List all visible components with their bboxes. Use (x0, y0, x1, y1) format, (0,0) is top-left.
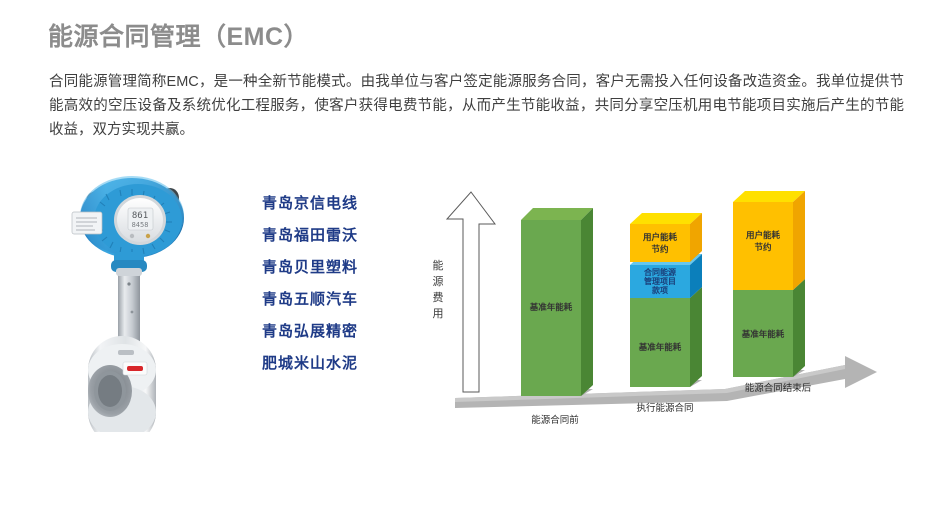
intro-paragraph: 合同能源管理简称EMC，是一种全新节能模式。由我单位与客户签定能源服务合同，客户… (49, 70, 904, 142)
bar1-seg-baseline-label: 基准年能耗 (529, 302, 573, 312)
emc-page: 能源合同管理（EMC） 合同能源管理简称EMC，是一种全新节能模式。由我单位与客… (0, 0, 945, 529)
bar1-seg-baseline-side (581, 208, 593, 396)
client-list: 青岛京信电线 青岛福田雷沃 青岛贝里塑料 青岛五顺汽车 青岛弘展精密 肥城米山水… (262, 196, 392, 388)
bar3-seg-saving-side (793, 191, 805, 290)
bar1-seg-baseline-top (521, 208, 593, 220)
meter-nameplate (72, 212, 102, 234)
bar2-seg-baseline-side (690, 287, 702, 387)
bar2-seg-payment-label-2: 管理项目 (644, 276, 676, 286)
bar3-seg-saving-label-1: 用户能耗 (745, 230, 781, 240)
bar2-seg-saving-top (630, 213, 702, 224)
meter-flange-body (88, 336, 156, 432)
client-list-item: 肥城米山水泥 (262, 356, 392, 372)
bar2-seg-saving-label-2: 节约 (651, 244, 669, 254)
chart-category-label-2: 执行能源合同 (636, 402, 693, 414)
client-list-item: 青岛京信电线 (262, 196, 392, 212)
bar2-seg-baseline-label: 基准年能耗 (638, 342, 682, 352)
bar3-seg-baseline-side (793, 279, 805, 377)
meter-display-value: 861 (132, 211, 148, 221)
bar-group-3: 基准年能耗 用户能耗 节约 (733, 191, 805, 377)
bar2-seg-payment-label-1: 合同能源 (643, 267, 676, 277)
bar2-seg-payment-label-3: 款项 (652, 285, 668, 295)
client-list-item: 青岛弘展精密 (262, 324, 392, 340)
client-list-item: 青岛福田雷沃 (262, 228, 392, 244)
bar2-seg-saving-front (630, 224, 690, 262)
bar-group-2: 基准年能耗 合同能源 管理项目 款项 用户能耗 节约 (630, 213, 702, 387)
chart-category-label-3: 能源合同结束后 (745, 382, 812, 394)
vortex-flow-meter-image: 861 8458 (60, 172, 240, 432)
bar-group-1: 基准年能耗 (521, 208, 593, 396)
client-list-item: 青岛五顺汽车 (262, 292, 392, 308)
bar3-seg-saving-top (733, 191, 805, 202)
client-list-item: 青岛贝里塑料 (262, 260, 392, 276)
page-title: 能源合同管理（EMC） (48, 17, 309, 53)
chart-category-label-1: 能源合同前 (531, 414, 579, 426)
y-axis-arrow (447, 192, 495, 392)
emc-savings-bar-chart: 基准年能耗 基准年能耗 合同能源 管理项目 款项 用户能耗 (425, 180, 925, 440)
bar3-seg-saving-label-2: 节约 (754, 242, 772, 252)
meter-display-subvalue: 8458 (132, 221, 149, 229)
bar2-seg-saving-label-1: 用户能耗 (642, 232, 678, 242)
bar3-seg-baseline-label: 基准年能耗 (741, 329, 785, 339)
